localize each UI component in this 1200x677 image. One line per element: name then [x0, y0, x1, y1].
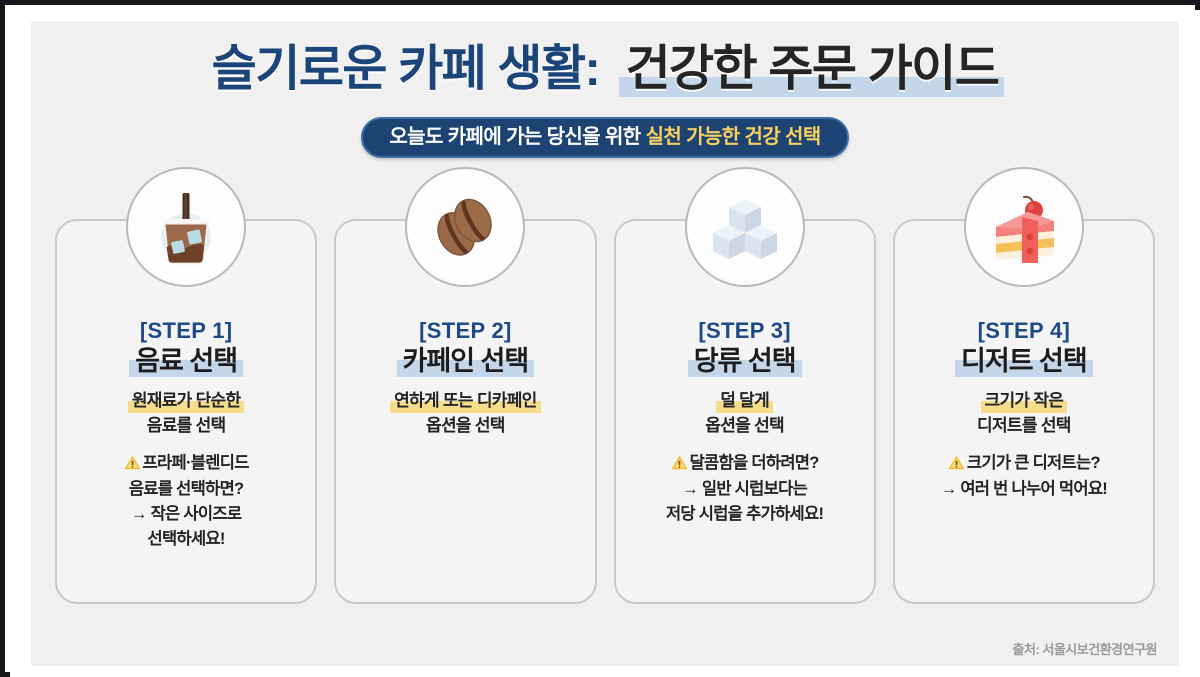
step-desc-plain-4: 디저트를 선택 — [895, 414, 1153, 439]
step-card-1: [STEP 1] 음료 선택 원재료가 단순한 음료를 선택 프라페·블렌디드 … — [55, 219, 317, 604]
step-title-wrap-2: 카페인 선택 — [397, 346, 535, 377]
step-desc-highlight-wrap-1: 원재료가 단순한 — [128, 389, 245, 414]
warning-line-text-1-0: 프라페·블렌디드 — [143, 454, 249, 472]
warning-line: → 여러 번 나누어 먹어요! — [901, 477, 1147, 502]
step-desc-highlight-wrap-4: 크기가 작은 — [981, 389, 1068, 414]
warning-triangle-icon — [671, 453, 688, 478]
page-title: 슬기로운 카페 생활: 건강한 주문 가이드 — [31, 45, 1179, 94]
step-tag-3: [STEP 3] — [616, 319, 874, 343]
step-warning-4: 크기가 큰 디저트는? → 여러 번 나누어 먹어요! — [895, 451, 1153, 503]
coffee-beans-icon — [405, 167, 525, 287]
step-tag-2: [STEP 2] — [336, 319, 594, 343]
step-desc-plain-2: 옵션을 선택 — [336, 414, 594, 439]
step-title-wrap-1: 음료 선택 — [129, 346, 243, 377]
step-card-3: [STEP 3] 당류 선택 덜 달게 옵션을 선택 달콤함을 더하려면? → … — [614, 219, 876, 604]
warning-line: 저당 시럽을 추가하세요! — [622, 502, 868, 527]
step-desc-plain-1: 음료를 선택 — [57, 414, 315, 439]
warning-line: 선택하세요! — [63, 527, 309, 552]
step-title-3: 당류 선택 — [688, 346, 802, 376]
iced-coffee-icon — [126, 167, 246, 287]
steps-container: [STEP 1] 음료 선택 원재료가 단순한 음료를 선택 프라페·블렌디드 … — [55, 219, 1155, 604]
step-desc-1: 원재료가 단순한 음료를 선택 — [57, 389, 315, 438]
step-tag-4: [STEP 4] — [895, 319, 1153, 343]
step-desc-plain-3: 옵션을 선택 — [616, 414, 874, 439]
step-desc-4: 크기가 작은 디저트를 선택 — [895, 389, 1153, 438]
title-part2: 건강한 주문 가이드 — [625, 42, 998, 96]
infographic-canvas: 슬기로운 카페 생활: 건강한 주문 가이드 오늘도 카페에 가는 당신을 위한… — [31, 21, 1179, 666]
warning-line: 달콤함을 더하려면? — [622, 451, 868, 478]
warning-line: → 일반 시럽보다는 — [622, 477, 868, 502]
step-desc-2: 연하게 또는 디카페인 옵션을 선택 — [336, 389, 594, 438]
title-part2-wrap: 건강한 주문 가이드 — [625, 45, 998, 94]
subtitle-gold-text: 실천 가능한 건강 선택 — [646, 126, 821, 148]
step-title-4: 디저트 선택 — [955, 346, 1093, 376]
warning-line: 프라페·블렌디드 — [63, 451, 309, 478]
step-desc-highlight-wrap-3: 덜 달게 — [716, 389, 773, 414]
warning-line: → 작은 사이즈로 — [63, 502, 309, 527]
step-desc-highlight-wrap-2: 연하게 또는 디카페인 — [390, 389, 541, 414]
step-card-2: [STEP 2] 카페인 선택 연하게 또는 디카페인 옵션을 선택 — [334, 219, 596, 604]
infographic-frame: 슬기로운 카페 생활: 건강한 주문 가이드 오늘도 카페에 가는 당신을 위한… — [0, 0, 1200, 677]
warning-line: 음료를 선택하면? — [63, 477, 309, 502]
step-desc-3: 덜 달게 옵션을 선택 — [616, 389, 874, 438]
step-card-4: [STEP 4] 디저트 선택 크기가 작은 디저트를 선택 크기가 큰 디저트… — [893, 219, 1155, 604]
sugar-cubes-icon — [685, 167, 805, 287]
step-desc-highlight-text-2: 연하게 또는 디카페인 — [390, 391, 541, 410]
step-warning-1: 프라페·블렌디드 음료를 선택하면? → 작은 사이즈로 선택하세요! — [57, 451, 315, 552]
subtitle-pill: 오늘도 카페에 가는 당신을 위한 실천 가능한 건강 선택 — [361, 117, 848, 158]
step-title-2: 카페인 선택 — [397, 346, 535, 376]
title-part1: 슬기로운 카페 생활: — [212, 42, 600, 96]
cake-slice-icon — [964, 167, 1084, 287]
warning-triangle-icon — [124, 453, 141, 478]
warning-line: 크기가 큰 디저트는? — [901, 451, 1147, 478]
step-desc-highlight-text-1: 원재료가 단순한 — [128, 391, 245, 410]
step-warning-3: 달콤함을 더하려면? → 일반 시럽보다는 저당 시럽을 추가하세요! — [616, 451, 874, 527]
step-title-wrap-3: 당류 선택 — [688, 346, 802, 377]
source-credit: 출처: 서울시보건환경연구원 — [1013, 639, 1157, 658]
step-desc-highlight-text-4: 크기가 작은 — [981, 391, 1068, 410]
subtitle-white-text: 오늘도 카페에 가는 당신을 위한 — [389, 126, 640, 148]
step-tag-1: [STEP 1] — [57, 319, 315, 343]
warning-line-text-4-0: 크기가 큰 디저트는? — [967, 454, 1100, 472]
warning-line-text-3-0: 달콤함을 더하려면? — [690, 454, 819, 472]
step-desc-highlight-text-3: 덜 달게 — [716, 391, 773, 410]
warning-triangle-icon — [948, 453, 965, 478]
step-title-1: 음료 선택 — [129, 346, 243, 376]
subtitle-row: 오늘도 카페에 가는 당신을 위한 실천 가능한 건강 선택 — [31, 117, 1179, 158]
step-title-wrap-4: 디저트 선택 — [955, 346, 1093, 377]
